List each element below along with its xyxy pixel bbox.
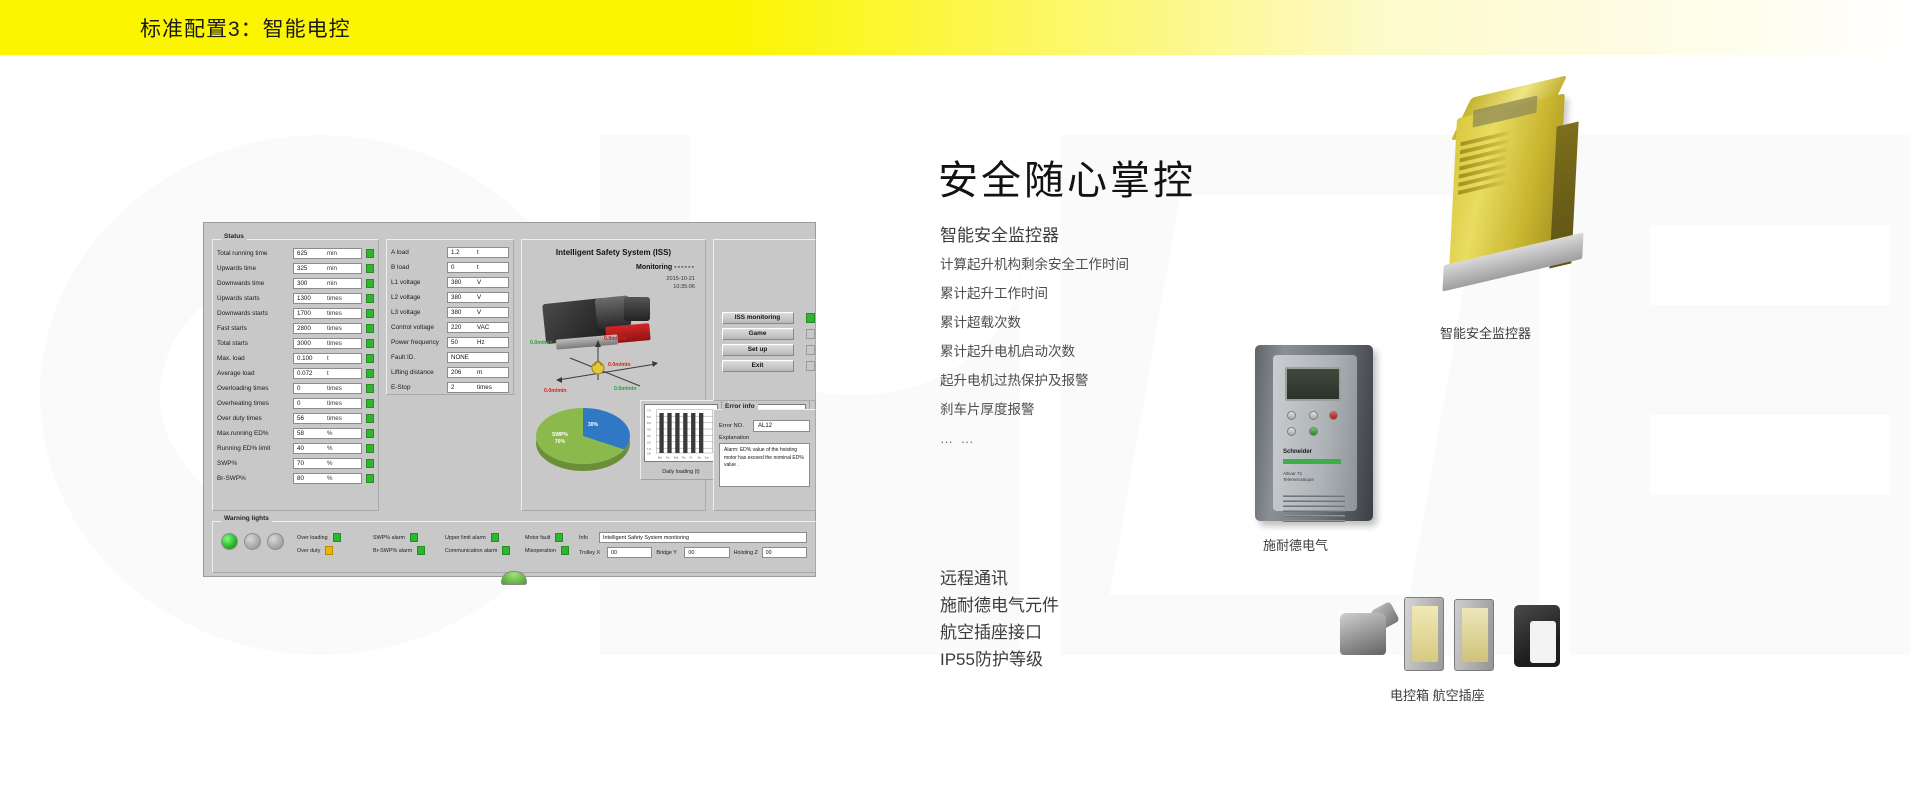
status-row-unit: times xyxy=(327,295,342,302)
status-row-led xyxy=(366,354,374,363)
pie-body xyxy=(536,408,630,464)
svg-text:Wed: Wed xyxy=(674,458,679,460)
hmi-button-led xyxy=(806,329,815,339)
page-title: 标准配置3：智能电控 xyxy=(140,13,351,43)
warning-item: Communication alarm xyxy=(445,544,510,557)
status-row-led xyxy=(366,399,374,408)
bottom-feature-item: 航空插座接口 xyxy=(940,619,1059,646)
safety-relay-image xyxy=(1435,95,1590,285)
warning-column-4: Motor fault Misoperation xyxy=(525,531,569,557)
parameter-row-value-box[interactable]: 380 V xyxy=(447,307,509,318)
coordinate-label: Trolley X xyxy=(579,550,607,556)
feature-list-title: 智能安全监控器 xyxy=(940,222,1270,250)
coordinate-value[interactable]: 00 xyxy=(684,547,729,558)
parameter-row-unit: m xyxy=(477,369,482,376)
svg-text:1.0: 1.0 xyxy=(647,447,651,451)
status-row: Total running time 625 min xyxy=(217,246,374,261)
svg-text:Sat: Sat xyxy=(698,456,702,459)
svg-text:Fri: Fri xyxy=(690,458,693,460)
svg-text:Mon: Mon xyxy=(658,458,663,460)
button-list: ISS monitoring Game Set up Exit xyxy=(714,240,815,372)
monitoring-dots: ▪▪▪▪▪▪ xyxy=(674,264,695,271)
warning-item-label: Upper limit alarm xyxy=(445,535,486,541)
svg-text:Thu: Thu xyxy=(682,458,686,460)
parameter-row-unit: V xyxy=(477,294,481,301)
info-area: Info Intelligent Safety System monitorin… xyxy=(579,531,807,559)
headline: 安全随心掌控 xyxy=(938,148,1196,206)
warning-item-led xyxy=(417,546,425,555)
product-caption-connectors: 电控箱 航空插座 xyxy=(1390,685,1485,704)
status-row: Over duty times 56 times xyxy=(217,411,374,426)
status-row-unit: min xyxy=(327,250,337,257)
status-row: Upwards starts 1300 times xyxy=(217,291,374,306)
parameter-row-unit: VAC xyxy=(477,324,489,331)
status-row: Average load 0.072 t xyxy=(217,366,374,381)
connector-insert-female xyxy=(1454,599,1496,673)
status-row-unit: times xyxy=(327,385,342,392)
parameter-row-value: NONE xyxy=(451,354,477,361)
status-row: Overloading times 0 times xyxy=(217,381,374,396)
status-row-label: Total starts xyxy=(217,340,293,347)
parameter-row-value: 220 xyxy=(451,324,477,331)
speed-label-1: 0.0m/min xyxy=(530,340,553,346)
iss-title: Intelligent Safety System (ISS) xyxy=(522,248,705,257)
status-row-unit: times xyxy=(327,340,342,347)
parameter-row-unit: V xyxy=(477,309,481,316)
status-row-label: Downwards time xyxy=(217,280,293,287)
watermark-shape-e xyxy=(1570,135,1910,655)
warning-item-led xyxy=(502,546,510,555)
parameter-row: Fault ID. NONE xyxy=(391,350,509,365)
bottom-feature-items: 远程通讯施耐德电气元件航空插座接口IP55防护等级 xyxy=(940,565,1059,673)
vfd-drive-image: Schneider Altivar 71Telemecanique xyxy=(1245,345,1390,525)
status-row-value-box[interactable]: 56 times xyxy=(293,413,362,424)
status-row: Upwards time 325 min xyxy=(217,261,374,276)
coordinate-field: Bridge Y 00 xyxy=(656,547,729,558)
svg-text:4.0: 4.0 xyxy=(647,427,651,431)
status-row-unit: min xyxy=(327,280,337,287)
warning-item: Over duty xyxy=(297,544,341,557)
warning-item: Upper limit alarm xyxy=(445,531,510,544)
status-row: Total starts 3000 times xyxy=(217,336,374,351)
status-row-unit: times xyxy=(327,415,342,422)
status-row-unit: min xyxy=(327,265,337,272)
status-row-label: Overloading times xyxy=(217,385,293,392)
parameter-row-unit: t xyxy=(477,264,479,271)
status-row-value: 70 xyxy=(297,460,327,467)
parameter-row-label: L2 voltage xyxy=(391,294,447,301)
hmi-button-led xyxy=(806,361,815,371)
warning-item-label: SWP% alarm xyxy=(373,535,405,541)
parameter-row: B load 0 t xyxy=(391,260,509,275)
speed-label-5: 0.0m/min xyxy=(544,388,567,394)
hmi-button[interactable]: ISS monitoring xyxy=(722,312,794,324)
status-row: Max.running ED% 58 % xyxy=(217,426,374,441)
swp-pie-chart: 30% SWP% 70% xyxy=(536,406,632,478)
parameters-panel: A load 1.2 t B load 0 t L1 voltage 380 V… xyxy=(386,239,514,395)
monitoring-label: Monitoring ▪▪▪▪▪▪ xyxy=(636,264,695,271)
status-row-value: 2800 xyxy=(297,325,327,332)
status-row-label: SWP% xyxy=(217,460,293,467)
parameter-row-label: Power frequency xyxy=(391,339,447,346)
status-row-value-box[interactable]: 3000 times xyxy=(293,338,362,349)
feature-item: 起升电机过热保护及报警 xyxy=(940,366,1270,395)
warning-item-led xyxy=(491,533,499,542)
header-band: 标准配置3：智能电控 xyxy=(0,0,1920,55)
warning-item-led xyxy=(325,546,333,555)
status-row-label: Running ED% limit xyxy=(217,445,293,452)
status-row: Downwards starts 1700 times xyxy=(217,306,374,321)
feature-ellipsis: … … xyxy=(940,424,1270,453)
warning-item-label: Br-SWP% alarm xyxy=(373,548,412,554)
status-row-unit: % xyxy=(327,460,333,467)
status-row-led xyxy=(366,279,374,288)
parameter-row: Lifting distance 206 m xyxy=(391,365,509,380)
warning-item-label: Communication alarm xyxy=(445,548,497,554)
parameter-row: E-Stop 2 times xyxy=(391,380,509,395)
parameter-row-value-box[interactable]: 220 VAC xyxy=(447,322,509,333)
feature-items: 计算起升机构剩余安全工作时间累计起升工作时间累计超载次数累计起升电机启动次数起升… xyxy=(940,250,1270,424)
status-row-unit: times xyxy=(327,400,342,407)
warning-column-2: SWP% alarm Br-SWP% alarm xyxy=(373,531,425,557)
status-row-label: Over duty times xyxy=(217,415,293,422)
hmi-button-row: Exit xyxy=(714,360,815,372)
error-info-panel: Error info Error NO. AL12 Explanation Al… xyxy=(713,409,816,511)
speed-label-2: 0.0m/min xyxy=(604,336,627,342)
warning-item: Br-SWP% alarm xyxy=(373,544,425,557)
product-caption-drive: 施耐德电气 xyxy=(1263,535,1328,554)
coordinate-row: Trolley X 00 Bridge Y 00 Hoisting Z 00 xyxy=(579,546,807,559)
parameter-row-value: 206 xyxy=(451,369,477,376)
warning-item-led xyxy=(555,533,563,542)
connector-hood-grey xyxy=(1340,603,1398,665)
warning-lights-title: Warning lights xyxy=(221,515,272,522)
pie-slice-other-label: 30% xyxy=(588,422,598,428)
status-row-led xyxy=(366,369,374,378)
status-row-label: Upwards time xyxy=(217,265,293,272)
svg-text:Tue: Tue xyxy=(666,458,670,460)
status-panel-title: Status xyxy=(221,233,247,240)
parameter-row-label: Fault ID. xyxy=(391,354,447,361)
parameter-row: L3 voltage 380 V xyxy=(391,305,509,320)
status-row: Max. load 0.100 t xyxy=(217,351,374,366)
status-row: Overheating times 0 times xyxy=(217,396,374,411)
warning-item-led xyxy=(333,533,341,542)
hmi-button[interactable]: Game xyxy=(722,328,794,340)
status-row-value-box[interactable]: 0 times xyxy=(293,383,362,394)
warning-item-led xyxy=(410,533,418,542)
parameter-row: L1 voltage 380 V xyxy=(391,275,509,290)
bottom-feature-item: IP55防护等级 xyxy=(940,646,1059,673)
status-row-led xyxy=(366,249,374,258)
status-row-value-box[interactable]: 300 min xyxy=(293,278,362,289)
hmi-button[interactable]: Exit xyxy=(722,360,794,372)
parameter-row-value-box[interactable]: 50 Hz xyxy=(447,337,509,348)
bottom-feature-item: 远程通讯 xyxy=(940,565,1059,592)
status-row-value: 0.100 xyxy=(297,355,327,362)
parameter-row-value: 380 xyxy=(451,309,477,316)
hmi-screenshot: Status Total running time 625 min Upward… xyxy=(203,222,816,577)
status-row-value: 0 xyxy=(297,385,327,392)
parameter-row-label: A load xyxy=(391,249,447,256)
feature-item: 累计超载次数 xyxy=(940,308,1270,337)
daily-loading-plot: 7.06.05.0 4.03.02.0 1.00.0 MonTueWed Thu… xyxy=(644,404,718,462)
status-row-unit: times xyxy=(327,310,342,317)
lamp-yellow xyxy=(244,533,261,550)
parameter-row-value-box[interactable]: NONE xyxy=(447,352,509,363)
explanation-text: Alarm: ED% value of the hoisting motor h… xyxy=(719,443,810,487)
status-row: Br-SWP% 80 % xyxy=(217,471,374,486)
parameter-row-value-box[interactable]: 2 times xyxy=(447,382,509,393)
status-row-value-box[interactable]: 2800 times xyxy=(293,323,362,334)
error-no-value[interactable]: AL12 xyxy=(753,420,810,432)
status-row-label: Br-SWP% xyxy=(217,475,293,482)
status-row-label: Average load xyxy=(217,370,293,377)
status-row-value: 1700 xyxy=(297,310,327,317)
status-row-value-box[interactable]: 58 % xyxy=(293,428,362,439)
status-row-value: 1300 xyxy=(297,295,327,302)
parameter-row: A load 1.2 t xyxy=(391,245,509,260)
coordinate-value[interactable]: 00 xyxy=(762,547,807,558)
status-row-label: Downwards starts xyxy=(217,310,293,317)
status-row-list: Total running time 625 min Upwards time … xyxy=(213,240,378,486)
status-row-led xyxy=(366,294,374,303)
status-row-value: 56 xyxy=(297,415,327,422)
parameter-row-label: L1 voltage xyxy=(391,279,447,286)
warning-column-3: Upper limit alarm Communication alarm xyxy=(445,531,510,557)
status-row-label: Total running time xyxy=(217,250,293,257)
parameter-row: Control voltage 220 VAC xyxy=(391,320,509,335)
parameter-row-unit: Hz xyxy=(477,339,485,346)
parameter-row-value: 0 xyxy=(451,264,477,271)
error-no-label: Error NO. xyxy=(719,423,753,429)
pie-main-pct: 70% xyxy=(555,439,565,445)
monitoring-text: Monitoring xyxy=(636,264,672,271)
status-row-led xyxy=(366,384,374,393)
status-row-unit: % xyxy=(327,430,333,437)
bottom-feature-item: 施耐德电气元件 xyxy=(940,592,1059,619)
warning-item-label: Over duty xyxy=(297,548,320,554)
warning-item: SWP% alarm xyxy=(373,531,425,544)
connector-insert-male xyxy=(1404,597,1446,673)
svg-text:3.0: 3.0 xyxy=(647,434,651,438)
parameter-row-value: 50 xyxy=(451,339,477,346)
status-row-led xyxy=(366,324,374,333)
parameter-row-value-box[interactable]: 380 V xyxy=(447,277,509,288)
status-row-value: 0 xyxy=(297,400,327,407)
status-row-led xyxy=(366,414,374,423)
status-row-value-box[interactable]: 0.072 t xyxy=(293,368,362,379)
status-row-unit: % xyxy=(327,475,333,482)
monitoring-time: 10:35:06 xyxy=(673,284,695,290)
parameter-row-value: 380 xyxy=(451,294,477,301)
daily-loading-chart: 7.06.05.0 4.03.02.0 1.00.0 MonTueWed Thu… xyxy=(640,400,722,480)
warning-item: Misoperation xyxy=(525,544,569,557)
feature-item: 刹车片厚度报警 xyxy=(940,395,1270,424)
coordinate-label: Bridge Y xyxy=(656,550,684,556)
product-caption-relay: 智能安全监控器 xyxy=(1440,323,1531,342)
coordinate-field: Trolley X 00 xyxy=(579,547,652,558)
svg-text:2.0: 2.0 xyxy=(647,440,651,444)
parameter-row-list: A load 1.2 t B load 0 t L1 voltage 380 V… xyxy=(387,240,513,395)
feature-item: 计算起升机构剩余安全工作时间 xyxy=(940,250,1270,279)
warning-item-label: Motor fault xyxy=(525,535,550,541)
parameter-row-unit: times xyxy=(477,384,492,391)
warning-item-led xyxy=(561,546,569,555)
status-row: Running ED% limit 40 % xyxy=(217,441,374,456)
speed-label-3: 0.0m/min xyxy=(608,362,631,368)
parameter-row-value: 2 xyxy=(451,384,477,391)
status-row: Downwards time 300 min xyxy=(217,276,374,291)
status-row-label: Fast starts xyxy=(217,325,293,332)
status-row-label: Max. load xyxy=(217,355,293,362)
status-row-value-box[interactable]: 625 min xyxy=(293,248,362,259)
status-row-value-box[interactable]: 70 % xyxy=(293,458,362,469)
svg-text:7.0: 7.0 xyxy=(647,408,651,412)
status-row-value: 40 xyxy=(297,445,327,452)
monitoring-panel: Intelligent Safety System (ISS) Monitori… xyxy=(521,239,706,511)
status-row-label: Upwards starts xyxy=(217,295,293,302)
info-label: Info xyxy=(579,535,599,541)
status-row-label: Overheating times xyxy=(217,400,293,407)
status-row-value: 3000 xyxy=(297,340,327,347)
parameter-row-value: 380 xyxy=(451,279,477,286)
status-row-value: 300 xyxy=(297,280,327,287)
parameter-row-value: 1.2 xyxy=(451,249,477,256)
svg-text:6.0: 6.0 xyxy=(647,415,651,419)
warning-item-label: Over loading xyxy=(297,535,328,541)
status-row-led xyxy=(366,264,374,273)
warning-item: Motor fault xyxy=(525,531,569,544)
status-row-unit: t xyxy=(327,370,329,377)
hmi-button-row: ISS monitoring xyxy=(714,312,815,324)
status-row-led xyxy=(366,459,374,468)
hmi-button-row: Game xyxy=(714,328,815,340)
hmi-button-led xyxy=(806,345,815,355)
warning-column-1: Over loading Over duty xyxy=(297,531,341,557)
indicator-lamps xyxy=(221,533,284,550)
status-row-unit: times xyxy=(327,325,342,332)
parameter-row-unit: V xyxy=(477,279,481,286)
status-row-value-box[interactable]: 40 % xyxy=(293,443,362,454)
status-row-led xyxy=(366,474,374,483)
parameter-row-label: Control voltage xyxy=(391,324,447,331)
status-row-led xyxy=(366,429,374,438)
parameter-row-label: B load xyxy=(391,264,447,271)
status-row-value-box[interactable]: 80 % xyxy=(293,473,362,484)
status-panel: Status Total running time 625 min Upward… xyxy=(212,239,379,511)
error-info-title: Error info xyxy=(722,403,758,410)
hmi-button-row: Set up xyxy=(714,344,815,356)
status-row-unit: % xyxy=(327,445,333,452)
parameter-row: Power frequency 50 Hz xyxy=(391,335,509,350)
speed-label-4: 0.0m/min xyxy=(614,386,637,392)
status-row-led xyxy=(366,444,374,453)
status-row-value: 0.072 xyxy=(297,370,327,377)
status-row-value: 80 xyxy=(297,475,327,482)
daily-loading-caption: Daily loading (t) xyxy=(644,469,718,475)
status-row-value: 58 xyxy=(297,430,327,437)
status-row-led xyxy=(366,339,374,348)
connector-hood-black xyxy=(1508,599,1570,673)
parameter-row-label: E-Stop xyxy=(391,384,447,391)
connectors-image xyxy=(1340,595,1590,685)
parameter-row-label: Lifting distance xyxy=(391,369,447,376)
explanation-label: Explanation xyxy=(719,435,810,441)
status-row: Fast starts 2800 times xyxy=(217,321,374,336)
parameter-row-value-box[interactable]: 380 V xyxy=(447,292,509,303)
coordinate-label: Hoisting Z xyxy=(734,550,762,556)
coordinate-field: Hoisting Z 00 xyxy=(734,547,807,558)
parameter-row-label: L3 voltage xyxy=(391,309,447,316)
feature-item: 累计起升电机启动次数 xyxy=(940,337,1270,366)
error-no-row: Error NO. AL12 xyxy=(719,420,810,432)
status-row-value: 625 xyxy=(297,250,327,257)
parameter-row-unit: t xyxy=(477,249,479,256)
status-knob[interactable] xyxy=(501,571,527,585)
coordinate-value[interactable]: 00 xyxy=(607,547,652,558)
hmi-button[interactable]: Set up xyxy=(722,344,794,356)
status-row-value-box[interactable]: 0.100 t xyxy=(293,353,362,364)
feature-list: 智能安全监控器 计算起升机构剩余安全工作时间累计起升工作时间累计超载次数累计起升… xyxy=(940,222,1270,453)
info-row: Info Intelligent Safety System monitorin… xyxy=(579,531,807,544)
hmi-button-led xyxy=(806,313,815,323)
info-value[interactable]: Intelligent Safety System monitoring xyxy=(599,532,807,543)
status-row-value-box[interactable]: 0 times xyxy=(293,398,362,409)
status-row-label: Max.running ED% xyxy=(217,430,293,437)
lamp-green xyxy=(221,533,238,550)
parameter-row-value-box[interactable]: 1.2 t xyxy=(447,247,509,258)
lamp-red xyxy=(267,533,284,550)
feature-item: 累计起升工作时间 xyxy=(940,279,1270,308)
status-row-led xyxy=(366,309,374,318)
svg-text:0.0: 0.0 xyxy=(647,451,651,455)
status-row-unit: t xyxy=(327,355,329,362)
pie-main-name: SWP% xyxy=(552,432,568,438)
parameter-row: L2 voltage 380 V xyxy=(391,290,509,305)
parameter-row-value-box[interactable]: 206 m xyxy=(447,367,509,378)
svg-text:Sun: Sun xyxy=(705,458,710,460)
monitoring-date: 2015-10-21 xyxy=(666,276,695,282)
status-row: SWP% 70 % xyxy=(217,456,374,471)
warning-item-label: Misoperation xyxy=(525,548,556,554)
warning-lights-panel: Warning lights Over loading Over duty SW… xyxy=(212,521,816,573)
svg-text:5.0: 5.0 xyxy=(647,421,651,425)
status-row-value: 325 xyxy=(297,265,327,272)
status-row-value-box[interactable]: 325 min xyxy=(293,263,362,274)
status-row-value-box[interactable]: 1700 times xyxy=(293,308,362,319)
bottom-feature-list: 远程通讯施耐德电气元件航空插座接口IP55防护等级 xyxy=(940,565,1059,673)
warning-item: Over loading xyxy=(297,531,341,544)
pie-slice-main-label: SWP% 70% xyxy=(552,432,568,446)
parameter-row-value-box[interactable]: 0 t xyxy=(447,262,509,273)
status-row-value-box[interactable]: 1300 times xyxy=(293,293,362,304)
button-panel: ISS monitoring Game Set up Exit xyxy=(713,239,816,401)
page-root: 标准配置3：智能电控 Status Total running time 625… xyxy=(0,0,1920,800)
